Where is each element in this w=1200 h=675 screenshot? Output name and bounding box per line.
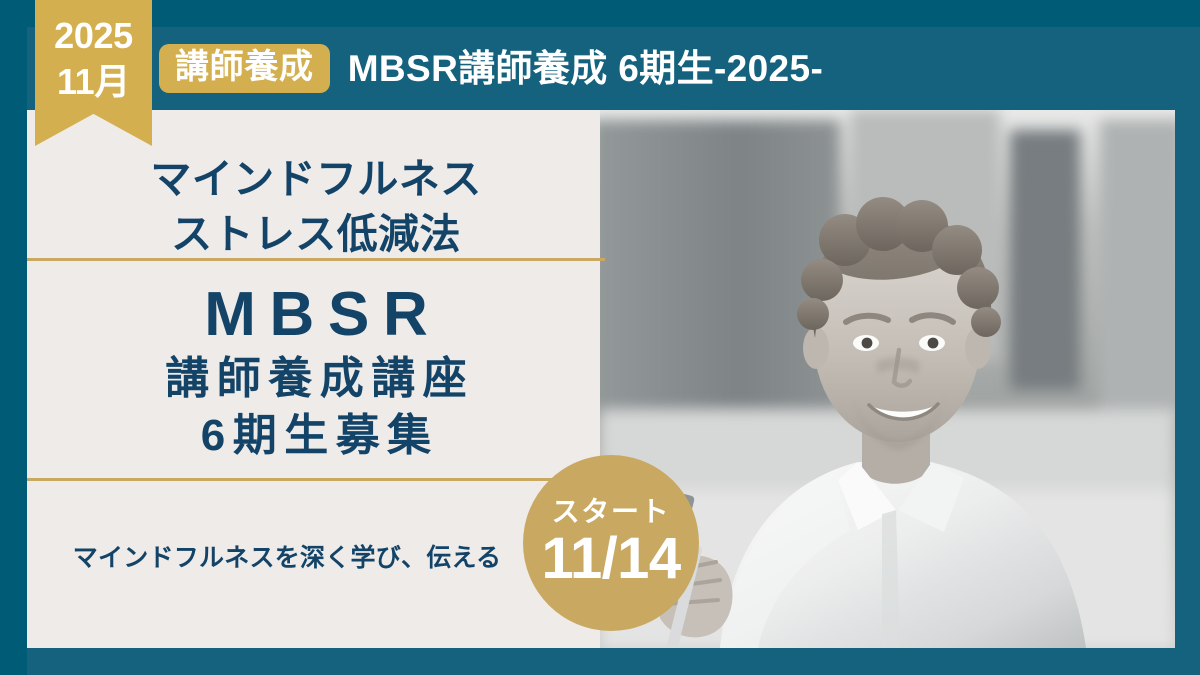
text-column: マインドフルネス ストレス低減法 MBSR 講師養成講座 6期生募集 マインドフ… bbox=[27, 110, 605, 648]
divider-top bbox=[27, 258, 605, 261]
start-badge-label: スタート bbox=[552, 498, 671, 526]
content-card: マインドフルネス ストレス低減法 MBSR 講師養成講座 6期生募集 マインドフ… bbox=[27, 110, 1175, 648]
ribbon-year: 2025 bbox=[35, 18, 152, 54]
subtitle-line-2: ストレス低減法 bbox=[27, 207, 605, 262]
program-subtitle: マインドフルネス ストレス低減法 bbox=[27, 152, 605, 263]
main-subtitle-line-1: 講師養成講座 bbox=[27, 355, 605, 403]
start-date-badge: スタート 11/14 bbox=[523, 455, 699, 631]
start-badge-date: 11/14 bbox=[541, 530, 680, 588]
divider-bottom bbox=[27, 478, 605, 481]
promo-banner: 講師養成 MBSR講師養成 6期生-2025- bbox=[0, 0, 1200, 675]
page-title: MBSR講師養成 6期生-2025- bbox=[348, 50, 823, 87]
header-category-badge: 講師養成 bbox=[159, 44, 330, 93]
main-subtitle-line-2: 6期生募集 bbox=[27, 412, 605, 460]
banner-header: 講師養成 MBSR講師養成 6期生-2025- bbox=[27, 27, 1200, 110]
main-title: MBSR bbox=[27, 282, 605, 347]
subtitle-line-1: マインドフルネス bbox=[27, 152, 605, 207]
ribbon-month: 11月 bbox=[35, 64, 152, 100]
tagline: マインドフルネスを深く学び、伝える bbox=[27, 543, 547, 573]
